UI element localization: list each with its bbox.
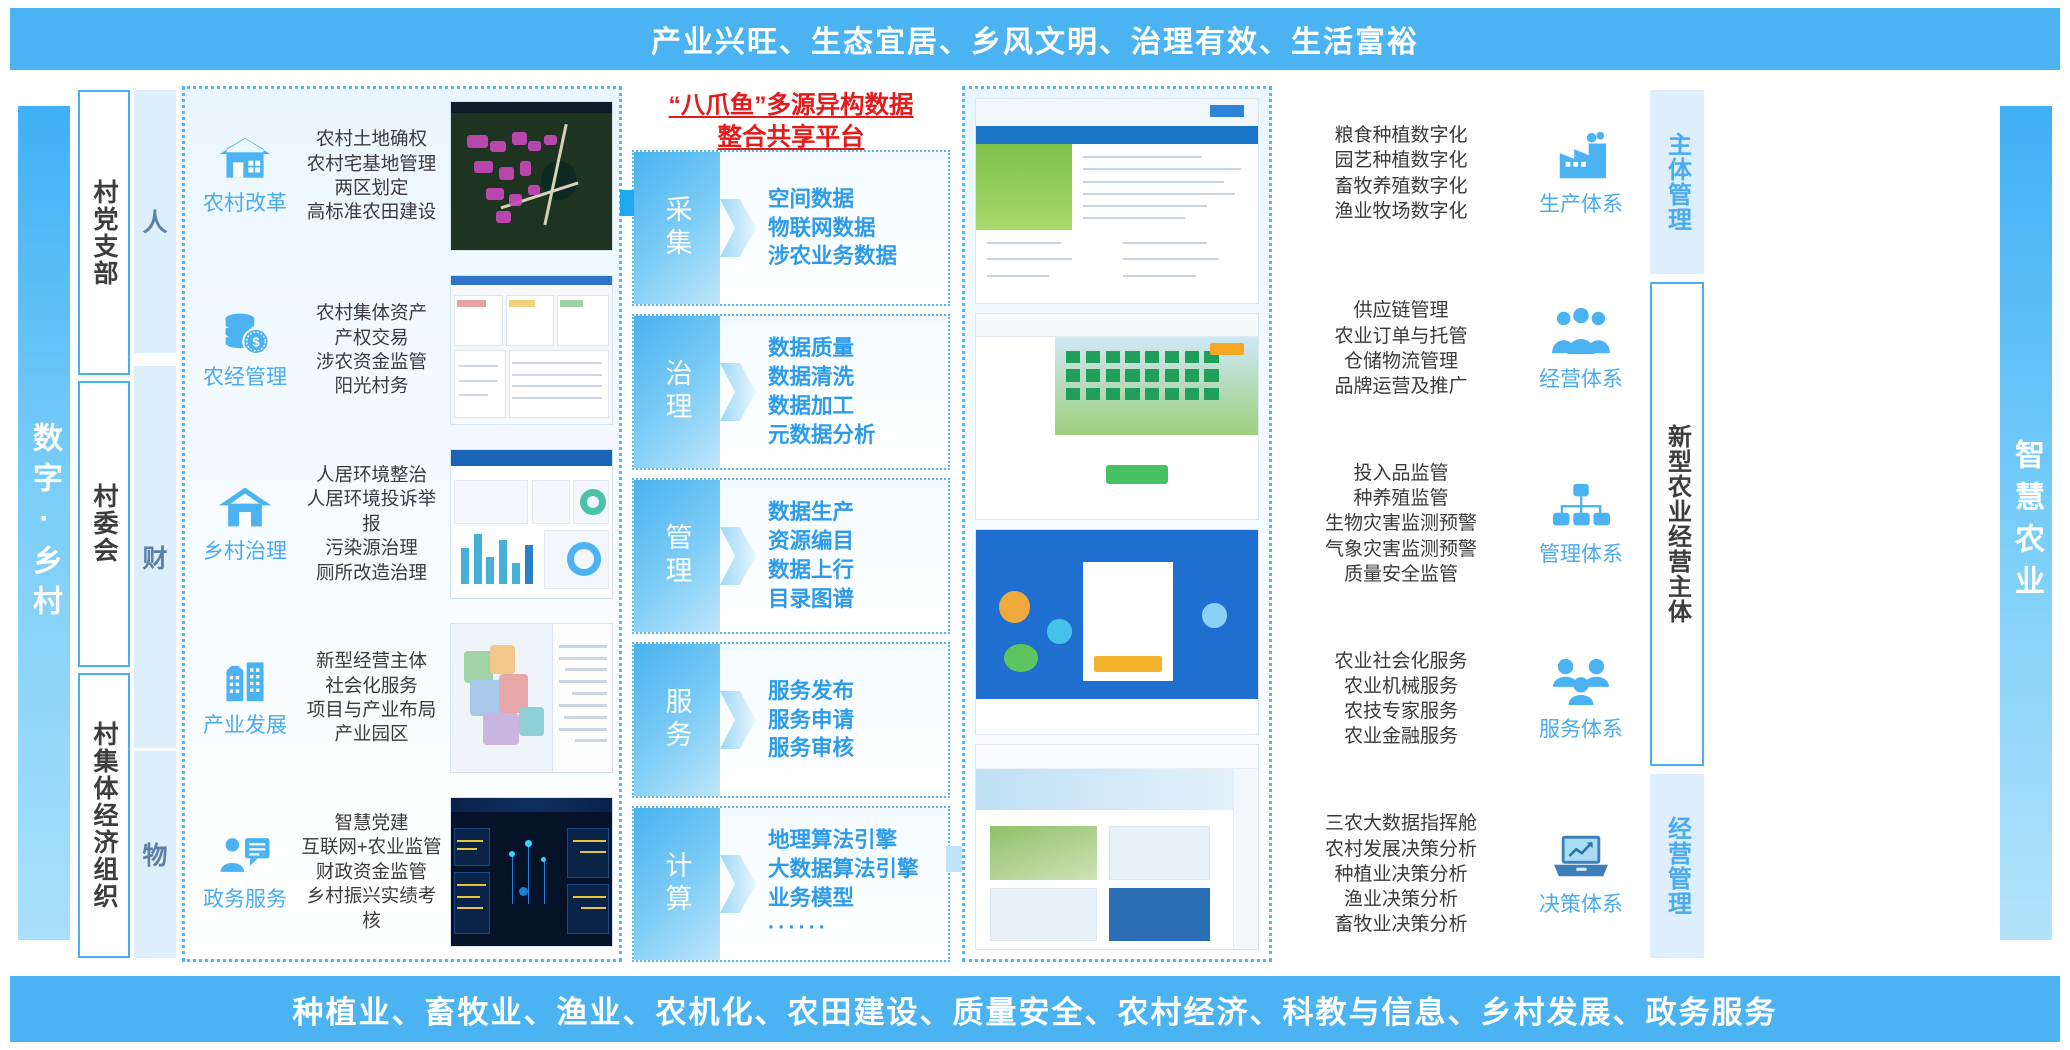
flow-item: 物联网数据 xyxy=(768,214,948,243)
resource-item-people: 人 xyxy=(134,90,176,353)
system-icon-wrap: 决策体系 xyxy=(1520,830,1642,918)
resource-item-label: 人 xyxy=(142,203,167,239)
domain-label: 政务服务 xyxy=(203,883,287,913)
org-item-village-committee[interactable]: 村委会 xyxy=(78,381,130,666)
flow-row-compute[interactable]: 计算 地理算法引擎 大数据算法引擎 业务模型 ······ xyxy=(632,806,950,962)
gis-map-screenshot xyxy=(450,623,613,773)
system-text-line: 农技专家服务 xyxy=(1282,699,1520,724)
systems-column: 粮食种植数字化 园艺种植数字化 畜牧养殖数字化 渔业牧场数字化 生产体系 xyxy=(1282,86,1642,962)
system-text-line: 畜牧养殖数字化 xyxy=(1282,174,1520,199)
flow-output-connector xyxy=(946,846,962,872)
domain-row-industry-development[interactable]: 产业发展 新型经营主体 社会化服务 项目与产业布局 产业园区 xyxy=(185,611,619,785)
left-pillar-label: 数字·乡村 xyxy=(22,422,66,625)
domain-row-gov-service[interactable]: 政务服务 智慧党建 互联网+农业监管 财政资金监管 乡村振兴实绩考核 xyxy=(185,785,619,959)
system-text-list: 粮食种植数字化 园艺种植数字化 畜牧养殖数字化 渔业牧场数字化 xyxy=(1282,123,1520,224)
flow-item: 服务发布 xyxy=(768,677,948,706)
service-people-icon xyxy=(1550,655,1612,709)
house-home-icon xyxy=(218,483,272,531)
flow-item: 数据加工 xyxy=(768,392,948,421)
domain-text-line: 两区划定 xyxy=(299,176,444,200)
right-pillar: 智慧农业 xyxy=(2000,106,2052,940)
system-icon-wrap: 经营体系 xyxy=(1520,305,1642,393)
system-label: 经营体系 xyxy=(1539,363,1623,393)
flow-item: 数据质量 xyxy=(768,334,948,363)
platform-column: “八爪鱼”多源异构数据 整合共享平台 采集 空间数据 物联网数据 涉农业务数据 … xyxy=(632,86,950,962)
system-text-line: 仓储物流管理 xyxy=(1282,349,1520,374)
domain-icon-wrap: 政务服务 xyxy=(191,831,299,913)
system-text-line: 供应链管理 xyxy=(1282,298,1520,323)
resource-item-assets: 物 xyxy=(134,751,176,958)
platform-flow: 采集 空间数据 物联网数据 涉农业务数据 治理 数据质量 数据清洗 数据加工 xyxy=(632,150,950,962)
flow-stage-collect: 采集 xyxy=(634,152,720,304)
domain-label: 产业发展 xyxy=(203,709,287,739)
domain-text-line: 人居环境整治 xyxy=(299,463,444,487)
domain-text-list: 农村集体资产 产权交易 涉农资金监管 阳光村务 xyxy=(299,301,444,399)
system-text-line: 农业机械服务 xyxy=(1282,674,1520,699)
satellite-map-screenshot xyxy=(450,101,613,251)
mgmt-item-new-agri-entity[interactable]: 新型农业经营主体 xyxy=(1650,282,1704,765)
system-label: 管理体系 xyxy=(1539,538,1623,568)
system-icon-wrap: 管理体系 xyxy=(1520,480,1642,568)
management-column: 主体管理 新型农业经营主体 经营管理 xyxy=(1650,90,1704,958)
desktop-app-screenshot xyxy=(450,275,613,425)
system-text-line: 农业金融服务 xyxy=(1282,724,1520,749)
mgmt-item-label: 经营管理 xyxy=(1660,816,1695,916)
flow-row-collect[interactable]: 采集 空间数据 物联网数据 涉农业务数据 xyxy=(632,150,950,306)
system-label: 服务体系 xyxy=(1539,713,1623,743)
system-text-list: 三农大数据指挥舱 农村发展决策分析 种植业决策分析 渔业决策分析 畜牧业决策分析 xyxy=(1282,811,1520,937)
flow-row-management[interactable]: 管理 数据生产 资源编目 数据上行 目录图谱 xyxy=(632,478,950,634)
app-screenshots-list xyxy=(965,89,1269,959)
mgmt-item-subject-management[interactable]: 主体管理 xyxy=(1650,90,1704,274)
flow-item: 服务审核 xyxy=(768,734,948,763)
people-group-icon xyxy=(1550,305,1612,359)
org-item-label: 村委会 xyxy=(86,483,122,564)
system-text-line: 品牌运营及推广 xyxy=(1282,374,1520,399)
flow-stage-label: 管理 xyxy=(658,523,697,589)
resource-item-finance: 财 xyxy=(134,366,176,748)
village-reform-icon xyxy=(218,135,272,183)
coins-money-icon: $ xyxy=(218,309,272,357)
domain-icon-wrap: 乡村治理 xyxy=(191,483,299,565)
domain-text-line: 人居环境投诉举报 xyxy=(299,487,444,536)
system-text-line: 粮食种植数字化 xyxy=(1282,123,1520,148)
system-row-production[interactable]: 粮食种植数字化 园艺种植数字化 畜牧养殖数字化 渔业牧场数字化 生产体系 xyxy=(1282,86,1642,261)
system-text-line: 种植业决策分析 xyxy=(1282,862,1520,887)
buildings-industry-icon xyxy=(218,657,272,705)
domain-text-line: 农村集体资产 xyxy=(299,301,444,325)
domain-label: 农经管理 xyxy=(203,361,287,391)
org-column: 村党支部 村委会 村集体经济组织 xyxy=(78,90,130,958)
org-item-label: 村党支部 xyxy=(86,179,122,287)
platform-title: “八爪鱼”多源异构数据 整合共享平台 xyxy=(632,86,950,155)
system-label: 生产体系 xyxy=(1539,188,1623,218)
bottom-banner-text: 种植业、畜牧业、渔业、农机化、农田建设、质量安全、农村经济、科教与信息、乡村发展… xyxy=(293,987,1778,1032)
system-text-list: 投入品监管 种养殖监管 生物灾害监测预警 气象灾害监测预警 质量安全监管 xyxy=(1282,461,1520,587)
system-icon-wrap: 服务体系 xyxy=(1520,655,1642,743)
domain-row-rural-governance[interactable]: 乡村治理 人居环境整治 人居环境投诉举报 污染源治理 厕所改造治理 xyxy=(185,437,619,611)
flow-row-service[interactable]: 服务 服务发布 服务申请 服务审核 xyxy=(632,642,950,798)
system-text-line: 农业社会化服务 xyxy=(1282,649,1520,674)
resource-column: 人 财 物 xyxy=(134,90,176,958)
system-text-line: 投入品监管 xyxy=(1282,461,1520,486)
system-text-line: 农业订单与托管 xyxy=(1282,324,1520,349)
system-text-line: 三农大数据指挥舱 xyxy=(1282,811,1520,836)
agriculture-portal-screenshot xyxy=(975,98,1259,304)
system-text-line: 种养殖监管 xyxy=(1282,486,1520,511)
domain-text-line: 社会化服务 xyxy=(299,674,444,698)
flow-stage-label: 计算 xyxy=(658,851,697,917)
flow-item: 资源编目 xyxy=(768,527,948,556)
domain-text-line: 厕所改造治理 xyxy=(299,561,444,585)
domain-text-line: 智慧党建 xyxy=(299,811,444,835)
system-text-line: 气象灾害监测预警 xyxy=(1282,537,1520,562)
domain-text-line: 产业园区 xyxy=(299,722,444,746)
top-banner-text: 产业兴旺、生态宜居、乡风文明、治理有效、生活富裕 xyxy=(651,17,1419,61)
domain-text-list: 人居环境整治 人居环境投诉举报 污染源治理 厕所改造治理 xyxy=(299,463,444,585)
system-text-list: 农业社会化服务 农业机械服务 农技专家服务 农业金融服务 xyxy=(1282,649,1520,750)
domain-icon-wrap: 产业发展 xyxy=(191,657,299,739)
dark-command-center-screenshot xyxy=(450,797,613,947)
app-screenshots-panel xyxy=(962,86,1272,962)
domain-text-line: 新型经营主体 xyxy=(299,649,444,673)
domain-row-village-reform[interactable]: 农村改革 农村土地确权 农村宅基地管理 两区划定 高标准农田建设 xyxy=(185,89,619,263)
flow-item: 数据上行 xyxy=(768,556,948,585)
resource-gap xyxy=(134,353,176,366)
system-row-decision[interactable]: 三农大数据指挥舱 农村发展决策分析 种植业决策分析 渔业决策分析 畜牧业决策分析… xyxy=(1282,787,1642,962)
system-text-line: 质量安全监管 xyxy=(1282,562,1520,587)
flow-item: 业务模型 xyxy=(768,884,948,913)
flow-item: 地理算法引擎 xyxy=(768,826,948,855)
org-item-collective-economy[interactable]: 村集体经济组织 xyxy=(78,673,130,958)
flow-stage-label: 服务 xyxy=(658,687,697,753)
business-domains-panel: 农村改革 农村土地确权 农村宅基地管理 两区划定 高标准农田建设 xyxy=(182,86,622,962)
mgmt-item-label: 新型农业经营主体 xyxy=(1660,424,1695,624)
gov-service-icon xyxy=(218,831,272,879)
domain-text-list: 智慧党建 互联网+农业监管 财政资金监管 乡村振兴实绩考核 xyxy=(299,811,444,933)
domain-text-line: 污染源治理 xyxy=(299,536,444,560)
system-text-list: 供应链管理 农业订单与托管 仓储物流管理 品牌运营及推广 xyxy=(1282,298,1520,399)
top-banner: 产业兴旺、生态宜居、乡风文明、治理有效、生活富裕 xyxy=(10,8,2060,70)
laptop-analytics-icon xyxy=(1550,830,1612,884)
domain-text-line: 农村宅基地管理 xyxy=(299,152,444,176)
system-text-line: 园艺种植数字化 xyxy=(1282,148,1520,173)
domain-label: 农村改革 xyxy=(203,187,287,217)
mgmt-item-operation-management[interactable]: 经营管理 xyxy=(1650,774,1704,958)
system-row-management[interactable]: 投入品监管 种养殖监管 生物灾害监测预警 气象灾害监测预警 质量安全监管 xyxy=(1282,436,1642,611)
svg-text:$: $ xyxy=(252,336,259,350)
flow-item-ellipsis: ······ xyxy=(768,913,948,942)
flow-stage-compute: 计算 xyxy=(634,808,720,960)
domain-text-line: 农村土地确权 xyxy=(299,127,444,151)
right-pillar-label: 智慧农业 xyxy=(2004,439,2048,607)
domain-text-line: 项目与产业布局 xyxy=(299,698,444,722)
domain-text-line: 互联网+农业监管 xyxy=(299,835,444,859)
system-row-operation[interactable]: 供应链管理 农业订单与托管 仓储物流管理 品牌运营及推广 经营体系 xyxy=(1282,261,1642,436)
org-chart-icon xyxy=(1550,480,1612,534)
resource-item-label: 财 xyxy=(142,539,167,575)
mgmt-item-label: 主体管理 xyxy=(1660,132,1695,232)
diagram-stage: 数字·乡村 村党支部 村委会 村集体经济组织 人 财 物 xyxy=(10,82,2060,964)
domain-text-line: 涉农资金监管 xyxy=(299,350,444,374)
factory-icon xyxy=(1550,130,1612,184)
flow-item: 目录图谱 xyxy=(768,585,948,614)
system-text-line: 渔业决策分析 xyxy=(1282,887,1520,912)
flow-stage-label: 采集 xyxy=(658,195,697,261)
dashboard-charts-screenshot xyxy=(450,449,613,599)
flow-item: 服务申请 xyxy=(768,706,948,735)
flow-item: 涉农业务数据 xyxy=(768,242,948,271)
flow-row-governance[interactable]: 治理 数据质量 数据清洗 数据加工 元数据分析 xyxy=(632,314,950,470)
flow-stage-label: 治理 xyxy=(658,359,697,425)
flow-item: 空间数据 xyxy=(768,185,948,214)
domain-text-list: 农村土地确权 农村宅基地管理 两区划定 高标准农田建设 xyxy=(299,127,444,225)
flow-stage-management: 管理 xyxy=(634,480,720,632)
org-item-label: 村集体经济组织 xyxy=(86,721,122,910)
domain-text-line: 高标准农田建设 xyxy=(299,200,444,224)
system-text-line: 生物灾害监测预警 xyxy=(1282,511,1520,536)
platform-title-line1: “八爪鱼”多源异构数据 xyxy=(632,90,950,122)
domain-label: 乡村治理 xyxy=(203,535,287,565)
produce-traceability-screenshot xyxy=(975,313,1259,519)
system-text-line: 畜牧业决策分析 xyxy=(1282,912,1520,937)
flow-item: 元数据分析 xyxy=(768,421,948,450)
system-row-service[interactable]: 农业社会化服务 农业机械服务 农技专家服务 农业金融服务 服务体系 xyxy=(1282,612,1642,787)
domain-text-line: 产权交易 xyxy=(299,326,444,350)
domain-text-line: 阳光村务 xyxy=(299,374,444,398)
smart-agri-portal-screenshot xyxy=(975,744,1259,950)
domain-icon-wrap: 农村改革 xyxy=(191,135,299,217)
flow-item: 数据生产 xyxy=(768,498,948,527)
domain-icon-wrap: $ 农经管理 xyxy=(191,309,299,391)
system-label: 决策体系 xyxy=(1539,888,1623,918)
flow-stage-governance: 治理 xyxy=(634,316,720,468)
flow-item: 数据清洗 xyxy=(768,363,948,392)
domain-text-list: 新型经营主体 社会化服务 项目与产业布局 产业园区 xyxy=(299,649,444,747)
domain-row-rural-economy[interactable]: $ 农经管理 农村集体资产 产权交易 涉农资金监管 阳光村务 xyxy=(185,263,619,437)
system-text-line: 渔业牧场数字化 xyxy=(1282,199,1520,224)
domain-text-line: 乡村振兴实绩考核 xyxy=(299,884,444,933)
resource-item-label: 物 xyxy=(142,836,167,872)
food-safety-login-screenshot xyxy=(975,529,1259,735)
org-item-party-branch[interactable]: 村党支部 xyxy=(78,90,130,375)
left-pillar: 数字·乡村 xyxy=(18,106,70,940)
bottom-banner: 种植业、畜牧业、渔业、农机化、农田建设、质量安全、农村经济、科教与信息、乡村发展… xyxy=(10,976,2060,1042)
domain-text-line: 财政资金监管 xyxy=(299,860,444,884)
system-icon-wrap: 生产体系 xyxy=(1520,130,1642,218)
flow-item: 大数据算法引擎 xyxy=(768,855,948,884)
system-text-line: 农村发展决策分析 xyxy=(1282,837,1520,862)
flow-stage-service: 服务 xyxy=(634,644,720,796)
